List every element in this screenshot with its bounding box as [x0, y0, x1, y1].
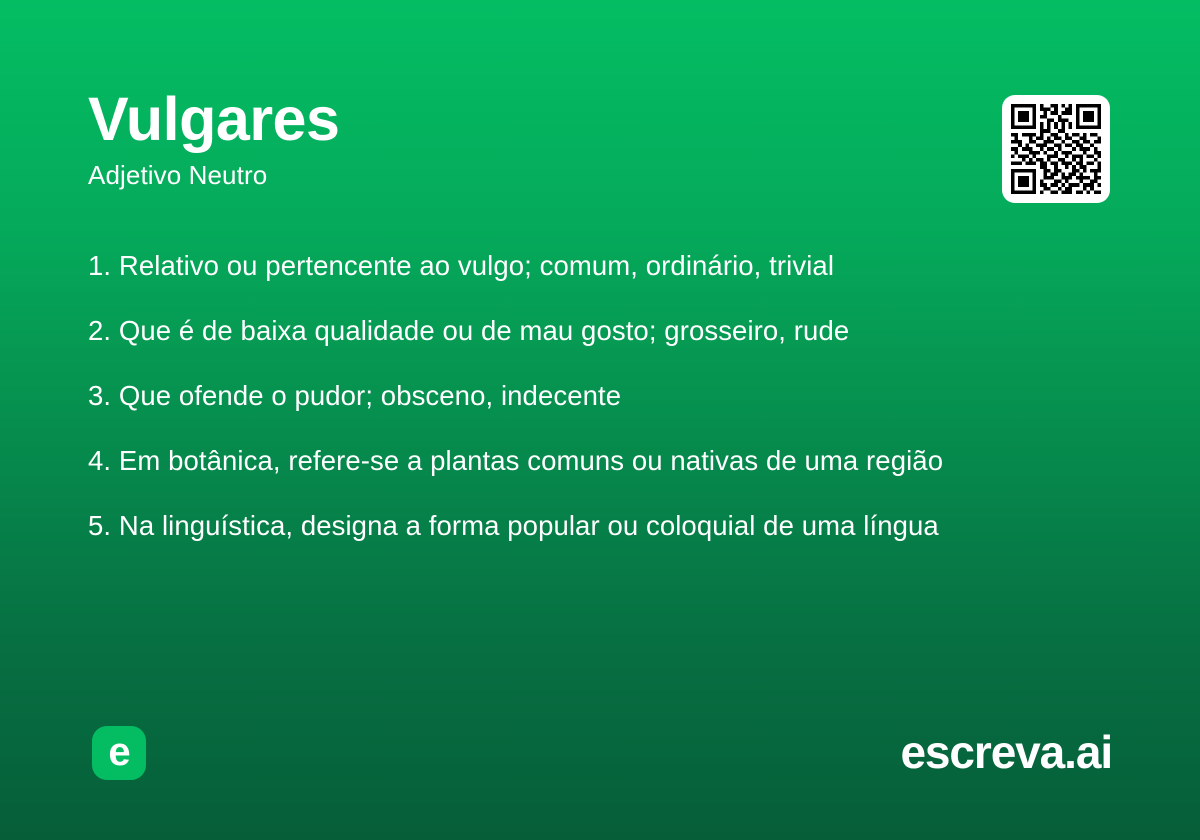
card-footer: e escreva.ai [0, 726, 1200, 782]
brand-wordmark: escreva.ai [900, 727, 1112, 778]
brand-logo-badge[interactable]: e [92, 726, 146, 780]
brand-logo-letter: e [108, 732, 129, 772]
card-header: Vulgares Adjetivo Neutro [88, 88, 948, 191]
dictionary-card: Vulgares Adjetivo Neutro 1. Relativo ou … [0, 0, 1200, 840]
definition-item: 3. Que ofende o pudor; obsceno, indecent… [88, 377, 1088, 415]
qr-code-icon [1011, 104, 1101, 194]
definition-item: 5. Na linguística, designa a forma popul… [88, 507, 1088, 545]
definition-item: 2. Que é de baixa qualidade ou de mau go… [88, 312, 1088, 350]
definition-item: 1. Relativo ou pertencente ao vulgo; com… [88, 247, 1088, 285]
page-title: Vulgares [88, 88, 948, 151]
definition-item: 4. Em botânica, refere-se a plantas comu… [88, 442, 1088, 480]
word-class-label: Adjetivo Neutro [88, 160, 948, 191]
definition-list: 1. Relativo ou pertencente ao vulgo; com… [88, 247, 1088, 545]
qr-code[interactable] [1002, 95, 1110, 203]
